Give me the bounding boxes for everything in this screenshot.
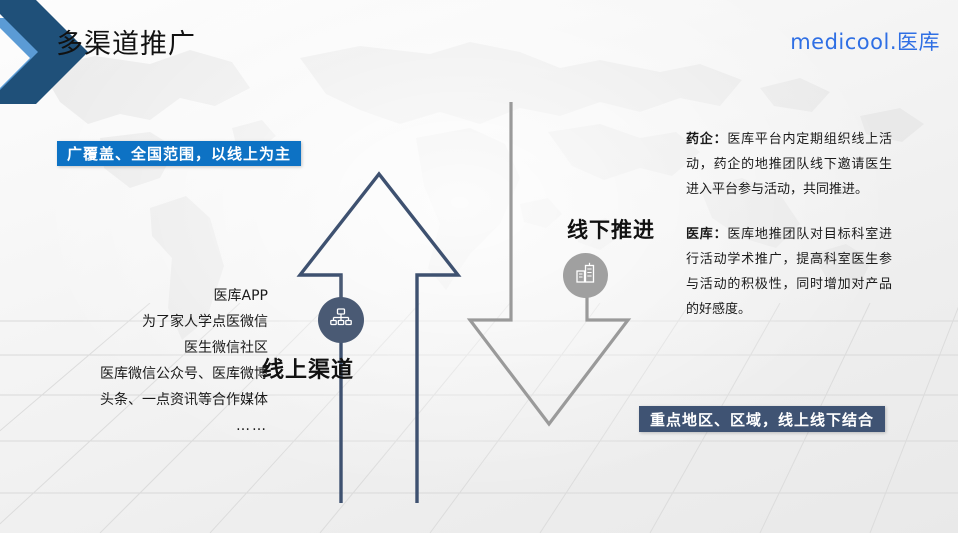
banner-offline-strategy: 重点地区、区域，线上线下结合	[639, 406, 885, 432]
banner-offline-text: 重点地区、区域，线上线下结合	[650, 409, 874, 430]
sitemap-icon	[329, 306, 353, 335]
banner-online-text: 广覆盖、全国范围，以线上为主	[67, 143, 291, 164]
online-channel-label: 线上渠道	[262, 352, 354, 384]
offline-channel-label: 线下推进	[567, 214, 655, 244]
buildings-icon	[574, 261, 598, 290]
up-arrow-shape	[300, 174, 458, 503]
online-node-circle[interactable]	[318, 297, 364, 343]
list-item: 医库APP	[18, 283, 268, 309]
offline-node-circle[interactable]	[563, 253, 608, 298]
list-item: 为了家人学点医微信	[18, 309, 268, 335]
list-item: ……	[18, 413, 268, 439]
offline-description-column: 药企：医库平台内定期组织线上活动，药企的地推团队线下邀请医生进入平台参与活动，共…	[686, 127, 892, 322]
page-title: 多渠道推广	[56, 22, 196, 61]
banner-online-strategy: 广覆盖、全国范围，以线上为主	[57, 141, 301, 166]
paragraph-medicool: 医库：医库地推团队对目标科室进行活动学术推广，提高科室医生参与活动的积极性，同时…	[686, 222, 892, 322]
paragraph-lead: 医库：	[686, 227, 727, 242]
paragraph-lead: 药企：	[686, 132, 727, 147]
list-item: 医生微信社区	[18, 335, 268, 361]
brand-logo: medicool.医库	[790, 26, 940, 56]
paragraph-pharma: 药企：医库平台内定期组织线上活动，药企的地推团队线下邀请医生进入平台参与活动，共…	[686, 127, 892, 202]
list-item: 头条、一点资讯等合作媒体	[18, 387, 268, 413]
online-channel-list: 医库APP 为了家人学点医微信 医生微信社区 医库微信公众号、医库微博 头条、一…	[18, 283, 268, 439]
list-item: 医库微信公众号、医库微博	[18, 361, 268, 387]
slide-canvas: 多渠道推广 medicool.医库	[0, 0, 958, 533]
